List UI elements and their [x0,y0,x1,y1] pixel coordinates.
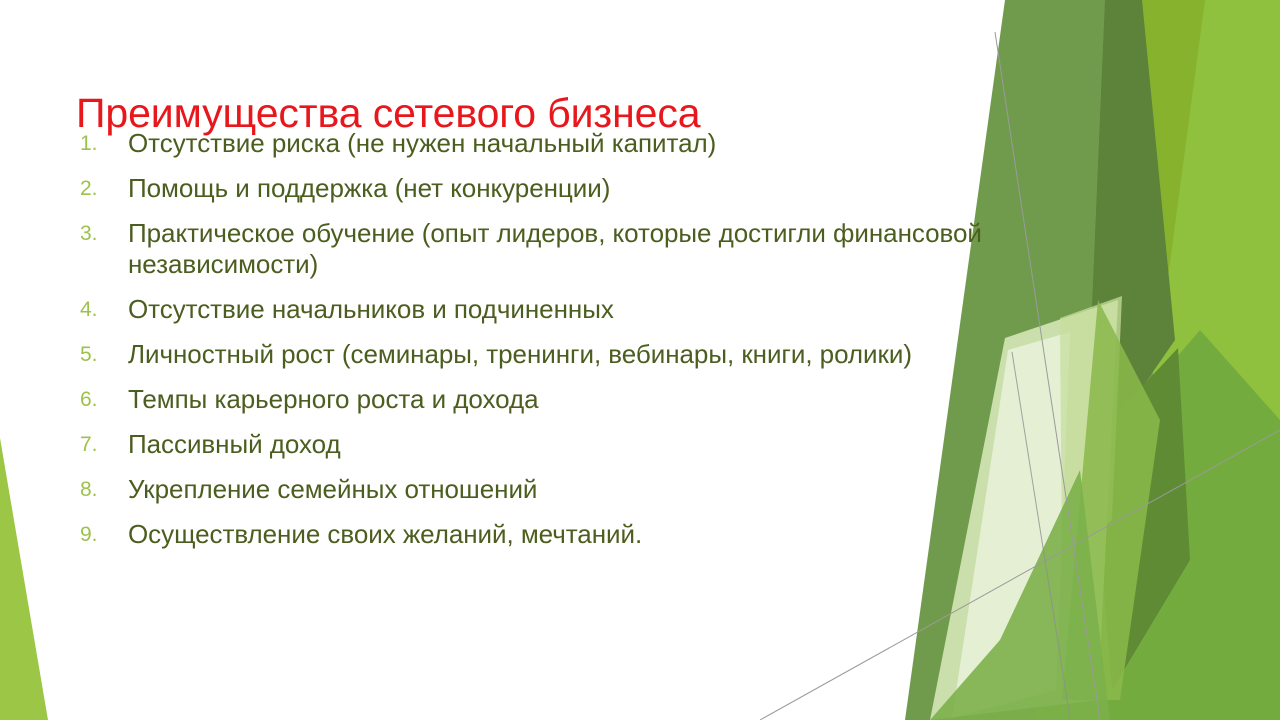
list-item-label: Практическое обучение (опыт лидеров, кот… [128,218,1006,280]
list-item-number: 9. [76,519,128,550]
list-item: 7. Пассивный доход [76,429,1006,460]
advantages-list: 1. Отсутствие риска (не нужен начальный … [76,128,1006,564]
list-item: 3. Практическое обучение (опыт лидеров, … [76,218,1006,280]
decor-pale-sliver [1060,296,1122,560]
list-item-label: Осуществление своих желаний, мечтаний. [128,519,1006,550]
list-item-label: Отсутствие риска (не нужен начальный кап… [128,128,1006,159]
list-item-label: Отсутствие начальников и подчиненных [128,294,1006,325]
list-item-number: 5. [76,339,128,370]
list-item: 9. Осуществление своих желаний, мечтаний… [76,519,1006,550]
list-item: 8. Укрепление семейных отношений [76,474,1006,505]
list-item-label: Укрепление семейных отношений [128,474,1006,505]
list-item-number: 3. [76,218,128,249]
list-item-label: Личностный рост (семинары, тренинги, веб… [128,339,1006,370]
decor-mid-green-band [1035,330,1280,720]
decor-deep-green-triangle [1085,0,1175,470]
list-item: 6. Темпы карьерного роста и дохода [76,384,1006,415]
decor-right-lime-column [1048,0,1280,720]
list-item-label: Помощь и поддержка (нет конкуренции) [128,173,1006,204]
list-item-label: Темпы карьерного роста и дохода [128,384,1006,415]
list-item-number: 4. [76,294,128,325]
decor-lower-dark-facet [1092,348,1190,690]
list-item-number: 2. [76,173,128,204]
decor-upper-lime-slab [1060,0,1205,330]
decor-overlap-wedge [1062,300,1160,700]
list-item-number: 7. [76,429,128,460]
list-item: 5. Личностный рост (семинары, тренинги, … [76,339,1006,370]
list-item-number: 8. [76,474,128,505]
list-item-number: 6. [76,384,128,415]
list-item-label: Пассивный доход [128,429,1006,460]
slide: Преимущества сетевого бизнеса 1. Отсутст… [0,0,1280,720]
list-item: 2. Помощь и поддержка (нет конкуренции) [76,173,1006,204]
list-item: 1. Отсутствие риска (не нужен начальный … [76,128,1006,159]
list-item: 4. Отсутствие начальников и подчиненных [76,294,1006,325]
slide-content: Преимущества сетевого бизнеса 1. Отсутст… [0,0,1030,720]
list-item-number: 1. [76,128,128,159]
